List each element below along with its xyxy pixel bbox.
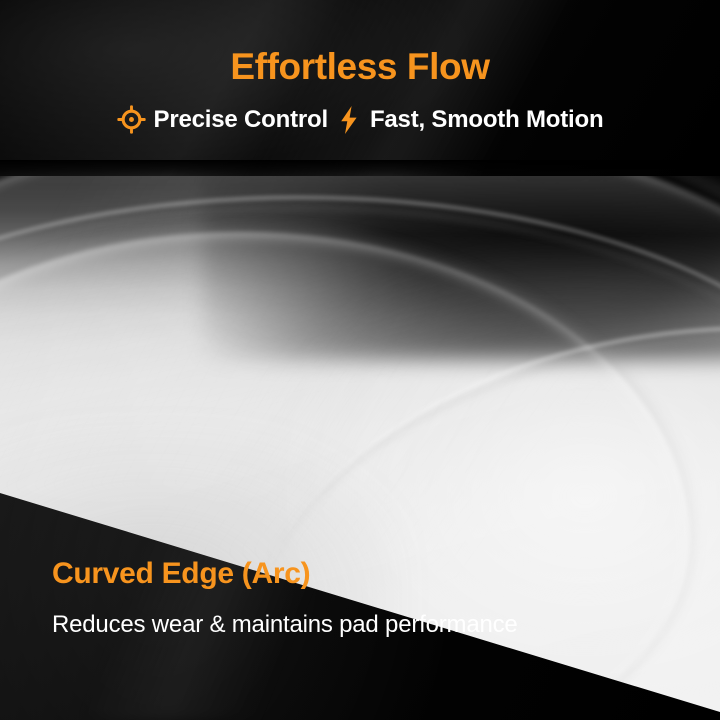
top-band-fade	[0, 160, 720, 176]
feature-label-precise-control: Precise Control	[154, 108, 328, 132]
bottom-headline: Curved Edge (Arc)	[52, 558, 310, 590]
top-headline: Effortless Flow	[0, 48, 720, 85]
lightning-bolt-icon	[339, 106, 359, 134]
bottom-description: Reduces wear & maintains pad performance	[52, 612, 518, 638]
target-crosshair-icon	[117, 105, 146, 134]
product-feature-banner: Effortless Flow Precise Control Fast, Sm…	[0, 0, 720, 720]
feature-row: Precise Control Fast, Smooth Motion	[0, 105, 720, 134]
top-banner-band	[0, 0, 720, 176]
top-band-streak	[0, 0, 720, 176]
feature-label-fast-smooth-motion: Fast, Smooth Motion	[370, 108, 604, 132]
